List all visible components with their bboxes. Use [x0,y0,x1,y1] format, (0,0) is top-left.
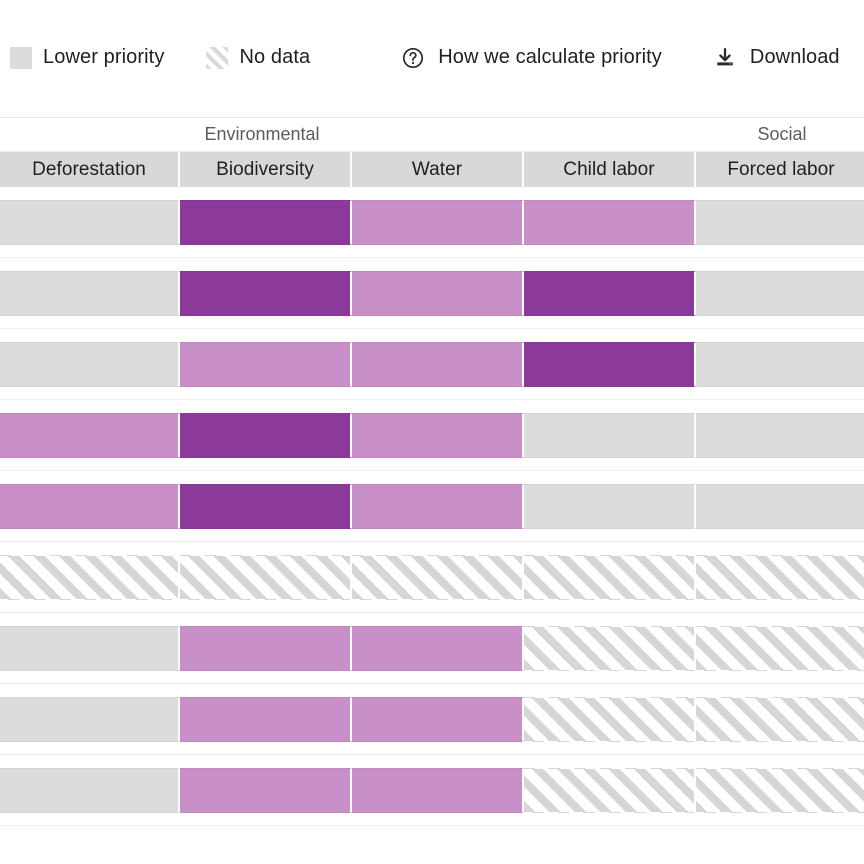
download-label: Download [750,46,840,69]
matrix-cell[interactable] [524,413,696,458]
matrix-cell[interactable] [696,271,864,316]
legend-item-lower-priority: Lower priority [10,46,164,69]
matrix-cell[interactable] [524,484,696,529]
priority-matrix-table: Environmental Social Deforestation Biodi… [0,117,864,826]
table-row [0,187,864,257]
matrix-cell[interactable] [696,626,864,671]
matrix-cell[interactable] [352,484,524,529]
download-icon [712,45,738,71]
matrix-cell[interactable] [180,200,352,245]
how-we-calculate-priority-link[interactable]: How we calculate priority [400,45,662,71]
legend-label-no-data: No data [239,46,310,69]
priority-matrix-page: Lower priority No data How we calculate … [0,0,864,864]
matrix-cell[interactable] [0,200,180,245]
matrix-cell[interactable] [524,697,696,742]
matrix-cell[interactable] [524,271,696,316]
matrix-cell[interactable] [180,342,352,387]
legend-toolbar: Lower priority No data How we calculate … [0,0,864,115]
legend-item-no-data: No data [206,46,310,69]
how-we-calculate-priority-label: How we calculate priority [438,46,662,69]
matrix-cell[interactable] [180,555,352,600]
matrix-cell[interactable] [0,413,180,458]
hatched-square-swatch [206,47,228,69]
column-header-row: Deforestation Biodiversity Water Child l… [0,152,864,187]
table-row [0,329,864,399]
matrix-cell[interactable] [524,768,696,813]
matrix-cell[interactable] [180,626,352,671]
matrix-cell[interactable] [524,555,696,600]
matrix-cell[interactable] [0,626,180,671]
matrix-cell[interactable] [0,768,180,813]
table-row [0,400,864,470]
matrix-cell[interactable] [524,200,696,245]
matrix-cell[interactable] [0,555,180,600]
matrix-cell[interactable] [352,697,524,742]
group-header-environmental: Environmental [0,118,524,151]
table-row [0,542,864,612]
column-header-water[interactable]: Water [352,152,524,187]
matrix-cell[interactable] [352,626,524,671]
matrix-cell[interactable] [696,342,864,387]
column-header-biodiversity[interactable]: Biodiversity [180,152,352,187]
column-header-forced-labor[interactable]: Forced labor [696,152,864,187]
matrix-rows [0,187,864,826]
group-header-social: Social [524,118,864,151]
gray-square-swatch [10,47,32,69]
matrix-cell[interactable] [180,484,352,529]
matrix-cell[interactable] [696,555,864,600]
matrix-cell[interactable] [524,342,696,387]
matrix-cell[interactable] [180,413,352,458]
matrix-cell[interactable] [696,413,864,458]
download-button[interactable]: Download [712,45,840,71]
table-row [0,471,864,541]
matrix-cell[interactable] [696,484,864,529]
matrix-cell[interactable] [180,697,352,742]
table-row [0,684,864,754]
column-header-deforestation[interactable]: Deforestation [0,152,180,187]
matrix-cell[interactable] [352,200,524,245]
matrix-cell[interactable] [352,271,524,316]
matrix-cell[interactable] [696,768,864,813]
matrix-cell[interactable] [0,697,180,742]
matrix-cell[interactable] [524,626,696,671]
table-row [0,755,864,825]
matrix-cell[interactable] [696,697,864,742]
table-row [0,258,864,328]
matrix-cell[interactable] [352,413,524,458]
legend-label-lower-priority: Lower priority [43,46,164,69]
table-row [0,613,864,683]
group-header-row: Environmental Social [0,117,864,152]
row-separator [0,825,864,826]
matrix-cell[interactable] [180,768,352,813]
matrix-cell[interactable] [0,342,180,387]
question-circle-icon [400,45,426,71]
matrix-cell[interactable] [352,768,524,813]
matrix-cell[interactable] [352,342,524,387]
matrix-cell[interactable] [0,484,180,529]
matrix-cell[interactable] [0,271,180,316]
matrix-cell[interactable] [180,271,352,316]
matrix-cell[interactable] [696,200,864,245]
column-header-child-labor[interactable]: Child labor [524,152,696,187]
matrix-cell[interactable] [352,555,524,600]
